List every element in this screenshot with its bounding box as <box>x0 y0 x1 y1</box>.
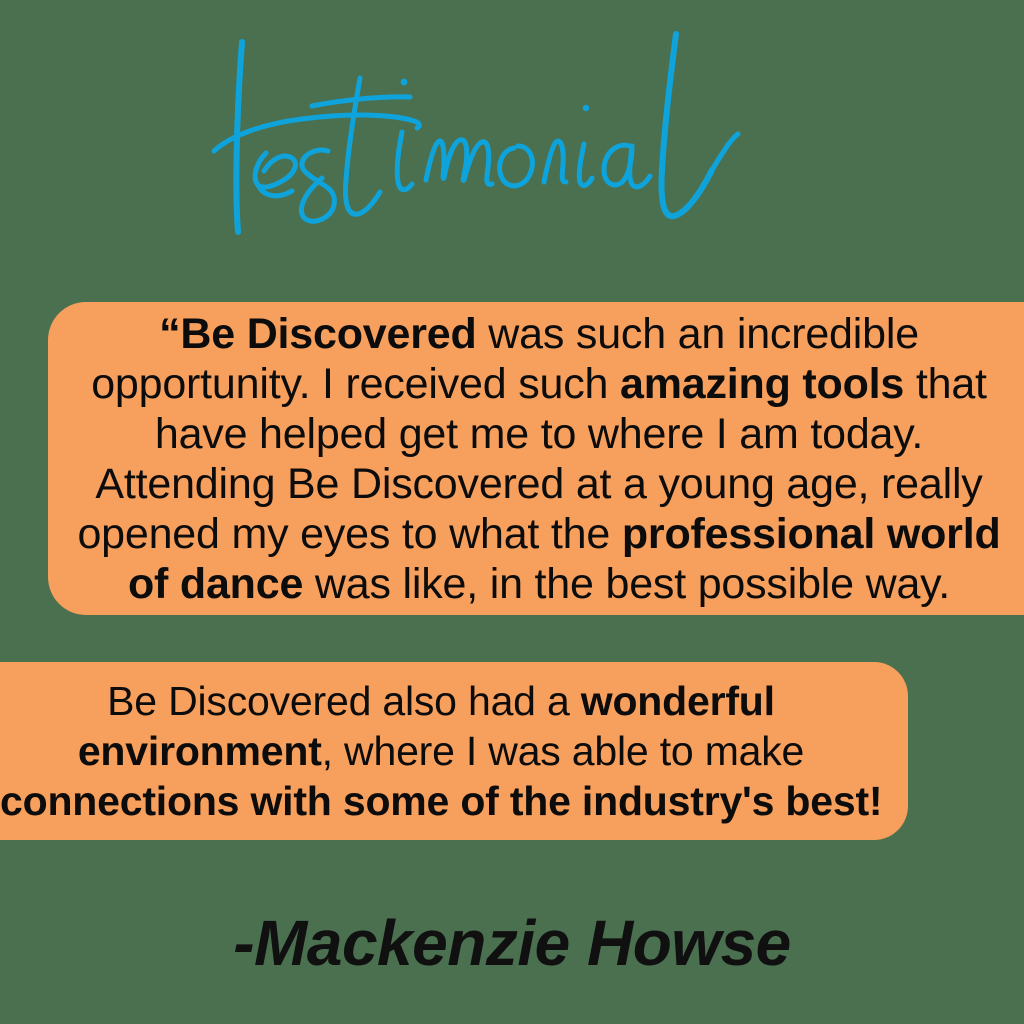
quote-text: that <box>904 360 987 408</box>
quote-text: Attending Be Discovered at a young age, … <box>95 460 982 508</box>
quote-card-secondary: Be Discovered also had a wonderfulenviro… <box>0 662 908 840</box>
testimonial-title: Testimonial <box>0 10 1024 260</box>
quote-emphasis: of dance <box>128 560 303 608</box>
quote-card-primary: “Be Discovered was such an incredibleopp… <box>48 302 1024 615</box>
quote-emphasis: wonderful <box>581 678 775 724</box>
quote-emphasis: connections with some of the industry's … <box>0 778 882 824</box>
quote-line: of dance was like, in the best possible … <box>76 559 1002 609</box>
quote-line: “Be Discovered was such an incredible <box>76 309 1002 359</box>
quote-emphasis: amazing tools <box>620 360 904 408</box>
quote-line: opportunity. I received such amazing too… <box>76 359 1002 409</box>
quote-text: was such an incredible <box>477 310 919 358</box>
quote-emphasis: professional world <box>622 510 1001 558</box>
quote-line: Be Discovered also had a wonderful <box>0 676 882 726</box>
quote-text: have helped get me to where I am today. <box>155 410 923 458</box>
quote-line: environment, where I was able to make <box>0 726 882 776</box>
quote-text: was like, in the best possible way. <box>303 560 950 608</box>
quote-emphasis: “Be Discovered <box>159 310 476 358</box>
quote-line: opened my eyes to what the professional … <box>76 509 1002 559</box>
quote-line: have helped get me to where I am today. <box>76 409 1002 459</box>
quote-line: Attending Be Discovered at a young age, … <box>76 459 1002 509</box>
testimonial-title-script: Testimonial <box>152 20 872 250</box>
quote-text: , where I was able to make <box>322 728 804 774</box>
attribution-name: -Mackenzie Howse <box>0 905 1024 981</box>
quote-text: opened my eyes to what the <box>77 510 621 558</box>
quote-line: connections with some of the industry's … <box>0 776 882 826</box>
quote-text: Be Discovered also had a <box>107 678 581 724</box>
quote-emphasis: environment <box>78 728 322 774</box>
quote-text: opportunity. I received such <box>91 360 620 408</box>
testimonial-poster: Testimonial “Be Discovered was such an i… <box>0 0 1024 1024</box>
